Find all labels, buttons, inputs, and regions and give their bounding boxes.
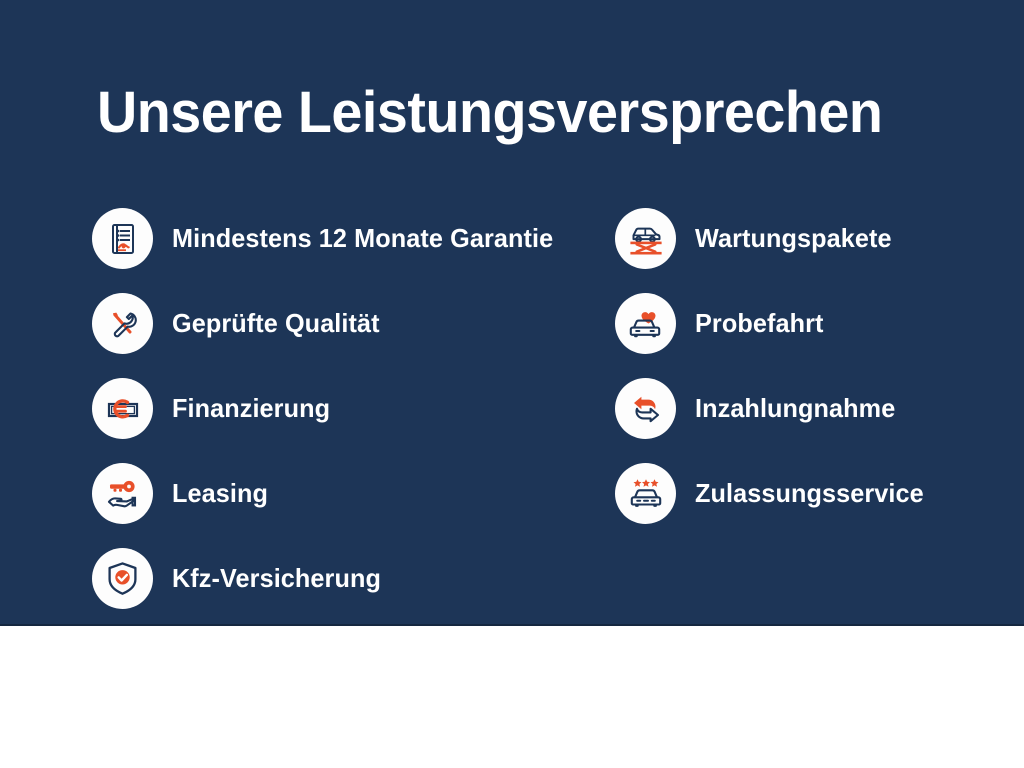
feature-label: Leasing bbox=[172, 478, 268, 509]
feature-item-inzahlungnahme: Inzahlungnahme bbox=[615, 366, 1015, 451]
certificate-signature-icon bbox=[92, 208, 153, 269]
feature-label: Finanzierung bbox=[172, 393, 330, 424]
footer-bar: SÜDHANNOVER AUTOMOBILE KOMPETENZ VOETSVE… bbox=[0, 628, 1024, 768]
wrench-screwdriver-icon bbox=[92, 293, 153, 354]
promo-graphic: Unsere Leistungsversprechen bbox=[0, 0, 1024, 768]
feature-column-right: Wartungspakete bbox=[615, 196, 1015, 536]
feature-item-wartungspakete: Wartungspakete bbox=[615, 196, 1015, 281]
car-heart-icon bbox=[615, 293, 676, 354]
hero-panel: Unsere Leistungsversprechen bbox=[0, 0, 1024, 626]
feature-label: Geprüfte Qualität bbox=[172, 308, 380, 339]
banknote-euro-icon bbox=[92, 378, 153, 439]
feature-label: Probefahrt bbox=[695, 308, 823, 339]
feature-item-zulassungsservice: Zulassungsservice bbox=[615, 451, 1015, 536]
shield-check-icon bbox=[92, 548, 153, 609]
feature-item-garantie: Mindestens 12 Monate Garantie bbox=[92, 196, 612, 281]
feature-item-versicherung: Kfz-Versicherung bbox=[92, 536, 612, 621]
feature-column-left: Mindestens 12 Monate Garantie Geprüft bbox=[92, 196, 612, 621]
feature-label: Mindestens 12 Monate Garantie bbox=[172, 223, 553, 254]
car-on-lift-icon bbox=[615, 208, 676, 269]
feature-item-leasing: Leasing bbox=[92, 451, 612, 536]
feature-item-probefahrt: Probefahrt bbox=[615, 281, 1015, 366]
car-three-stars-icon bbox=[615, 463, 676, 524]
exchange-arrows-icon bbox=[615, 378, 676, 439]
feature-label: Zulassungsservice bbox=[695, 478, 924, 509]
feature-label: Kfz-Versicherung bbox=[172, 563, 381, 594]
page-title: Unsere Leistungsversprechen bbox=[97, 84, 923, 142]
feature-label: Inzahlungnahme bbox=[695, 393, 895, 424]
feature-label: Wartungspakete bbox=[695, 223, 892, 254]
feature-item-finanzierung: Finanzierung bbox=[92, 366, 612, 451]
key-in-hand-icon bbox=[92, 463, 153, 524]
feature-item-qualitaet: Geprüfte Qualität bbox=[92, 281, 612, 366]
